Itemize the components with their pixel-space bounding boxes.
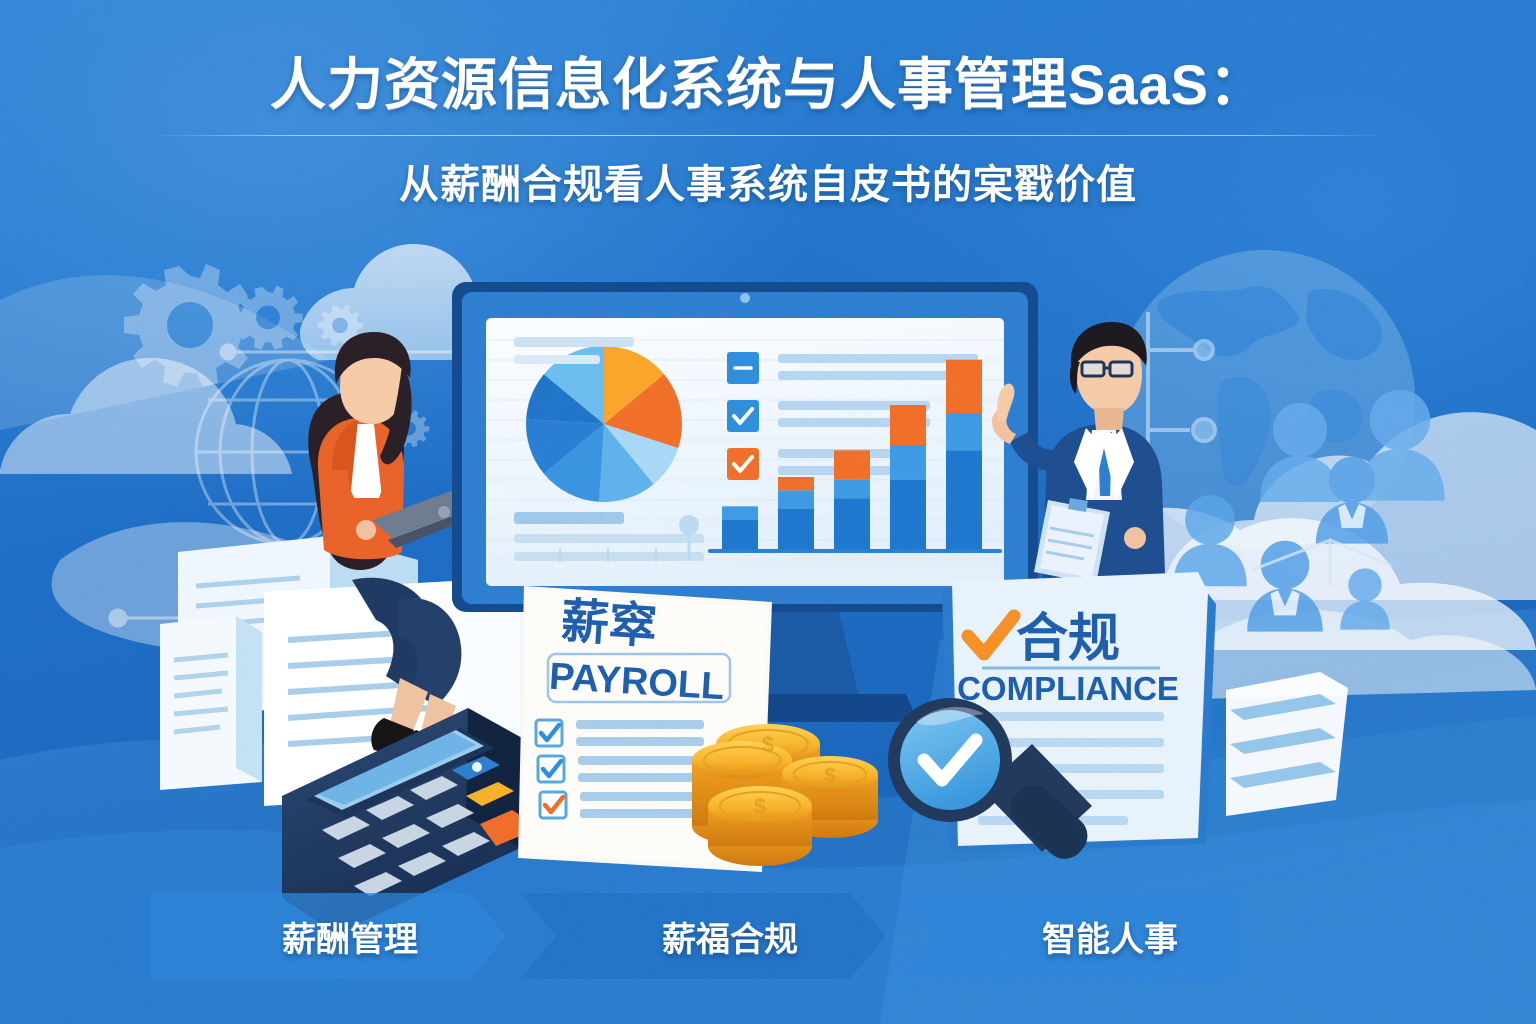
- footer-item-benefit-compliance[interactable]: 薪福合规: [580, 893, 880, 979]
- header-block: 人力资源信息化系统与人事管理SaaS： 从薪酬合规看人事系统自皮书的宲戳价值: [0, 54, 1536, 210]
- infographic-canvas: $ $ $ 薪窣 PAYROLL 合规 COMPL: [0, 0, 1536, 1024]
- footer-item-payroll-management[interactable]: 薪酬管理: [200, 893, 500, 979]
- footer-item-smart-hr[interactable]: 智能人事: [960, 893, 1260, 979]
- footer-chevron-bar: 薪酬管理 薪福合规 智能人事: [0, 893, 1536, 979]
- page-subtitle: 从薪酬合规看人事系统自皮书的宲戳价值: [0, 152, 1536, 210]
- page-title: 人力资源信息化系统与人事管理SaaS：: [0, 54, 1536, 117]
- title-divider: [148, 135, 1388, 136]
